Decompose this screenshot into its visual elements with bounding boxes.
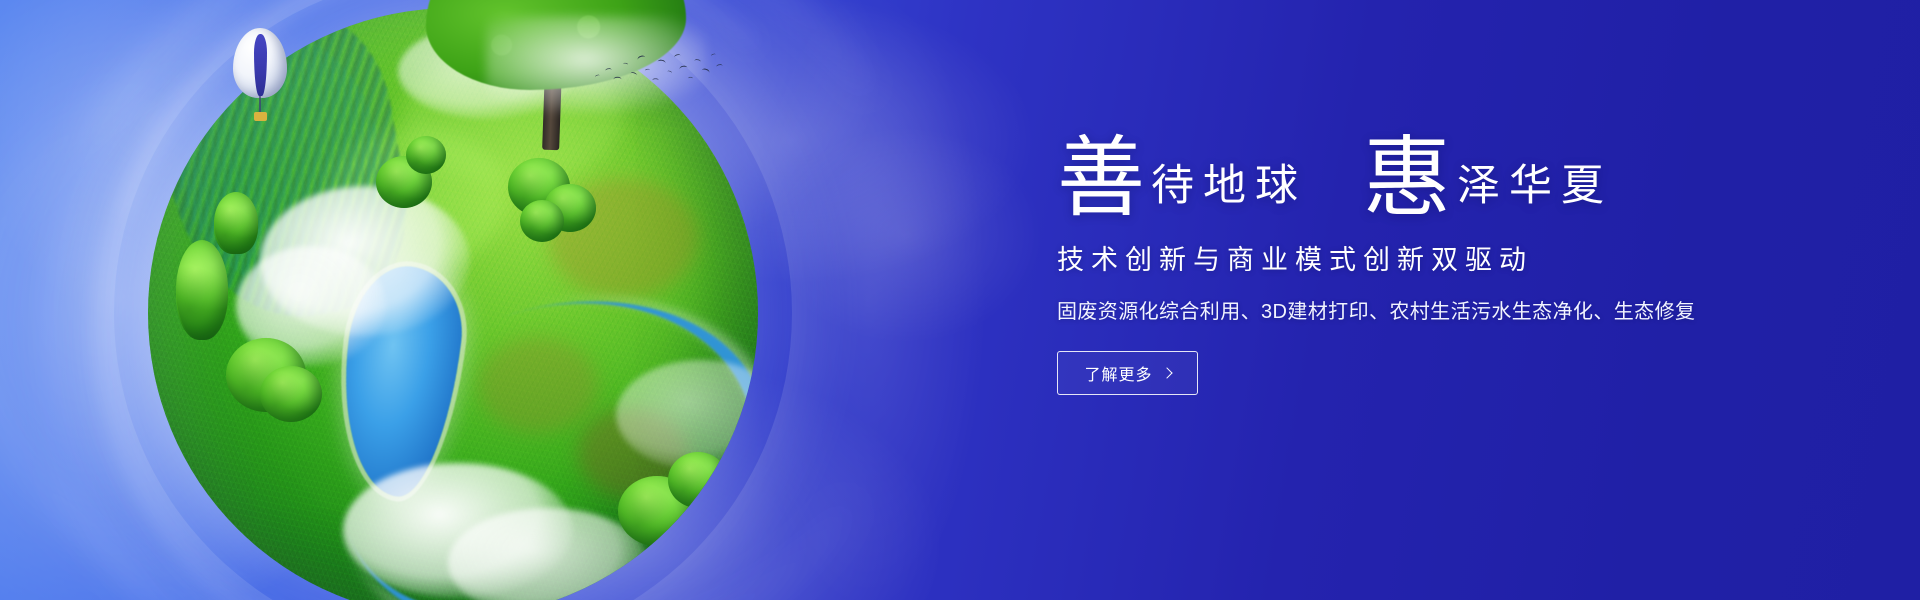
bird-icon [694, 59, 701, 65]
bird-icon [679, 65, 688, 72]
bird-icon [701, 68, 710, 76]
bird-icon [667, 70, 673, 75]
bird-icon [623, 62, 628, 66]
balloon-basket [254, 112, 267, 121]
bird-icon [688, 77, 693, 81]
learn-more-button[interactable]: 了解更多 [1057, 351, 1198, 395]
chevron-right-icon [1161, 367, 1172, 378]
bird-icon [630, 71, 638, 77]
page-subtitle: 技术创新与商业模式创新双驱动 [1057, 238, 1777, 277]
hero-banner: 善 待地球 惠 泽华夏 技术创新与商业模式创新双驱动 固废资源化综合利用、3D建… [0, 0, 1920, 600]
bird-icon [716, 64, 723, 70]
page-description: 固废资源化综合利用、3D建材打印、农村生活污水生态净化、生态修复 [1057, 295, 1777, 324]
balloon-rope [259, 96, 261, 113]
headline-char-primary-2: 惠 [1363, 136, 1451, 224]
tree-cluster [260, 366, 322, 422]
bird-icon [711, 53, 717, 58]
bird-icon [637, 55, 646, 63]
headline-char-primary-1: 善 [1057, 136, 1145, 224]
tree-cluster [668, 452, 728, 508]
tree-cluster [520, 200, 564, 242]
hero-content: 善 待地球 惠 泽华夏 技术创新与商业模式创新双驱动 固废资源化综合利用、3D建… [1057, 126, 1777, 395]
bird-icon [614, 77, 622, 83]
learn-more-label: 了解更多 [1084, 361, 1152, 385]
bird-icon [595, 74, 601, 79]
headline-text-1: 待地球 [1145, 165, 1307, 208]
bird-icon [652, 78, 658, 83]
bird-icon [657, 59, 666, 66]
bird-icon [645, 68, 650, 72]
page-title: 善 待地球 惠 泽华夏 [1057, 126, 1777, 214]
hot-air-balloon-icon [233, 28, 287, 124]
bird-icon [605, 68, 612, 74]
bird-flock-icon [592, 48, 722, 92]
bird-icon [674, 53, 682, 59]
tree-cluster [176, 240, 228, 340]
headline-text-2: 泽华夏 [1451, 165, 1613, 208]
tree-cluster [214, 192, 258, 254]
